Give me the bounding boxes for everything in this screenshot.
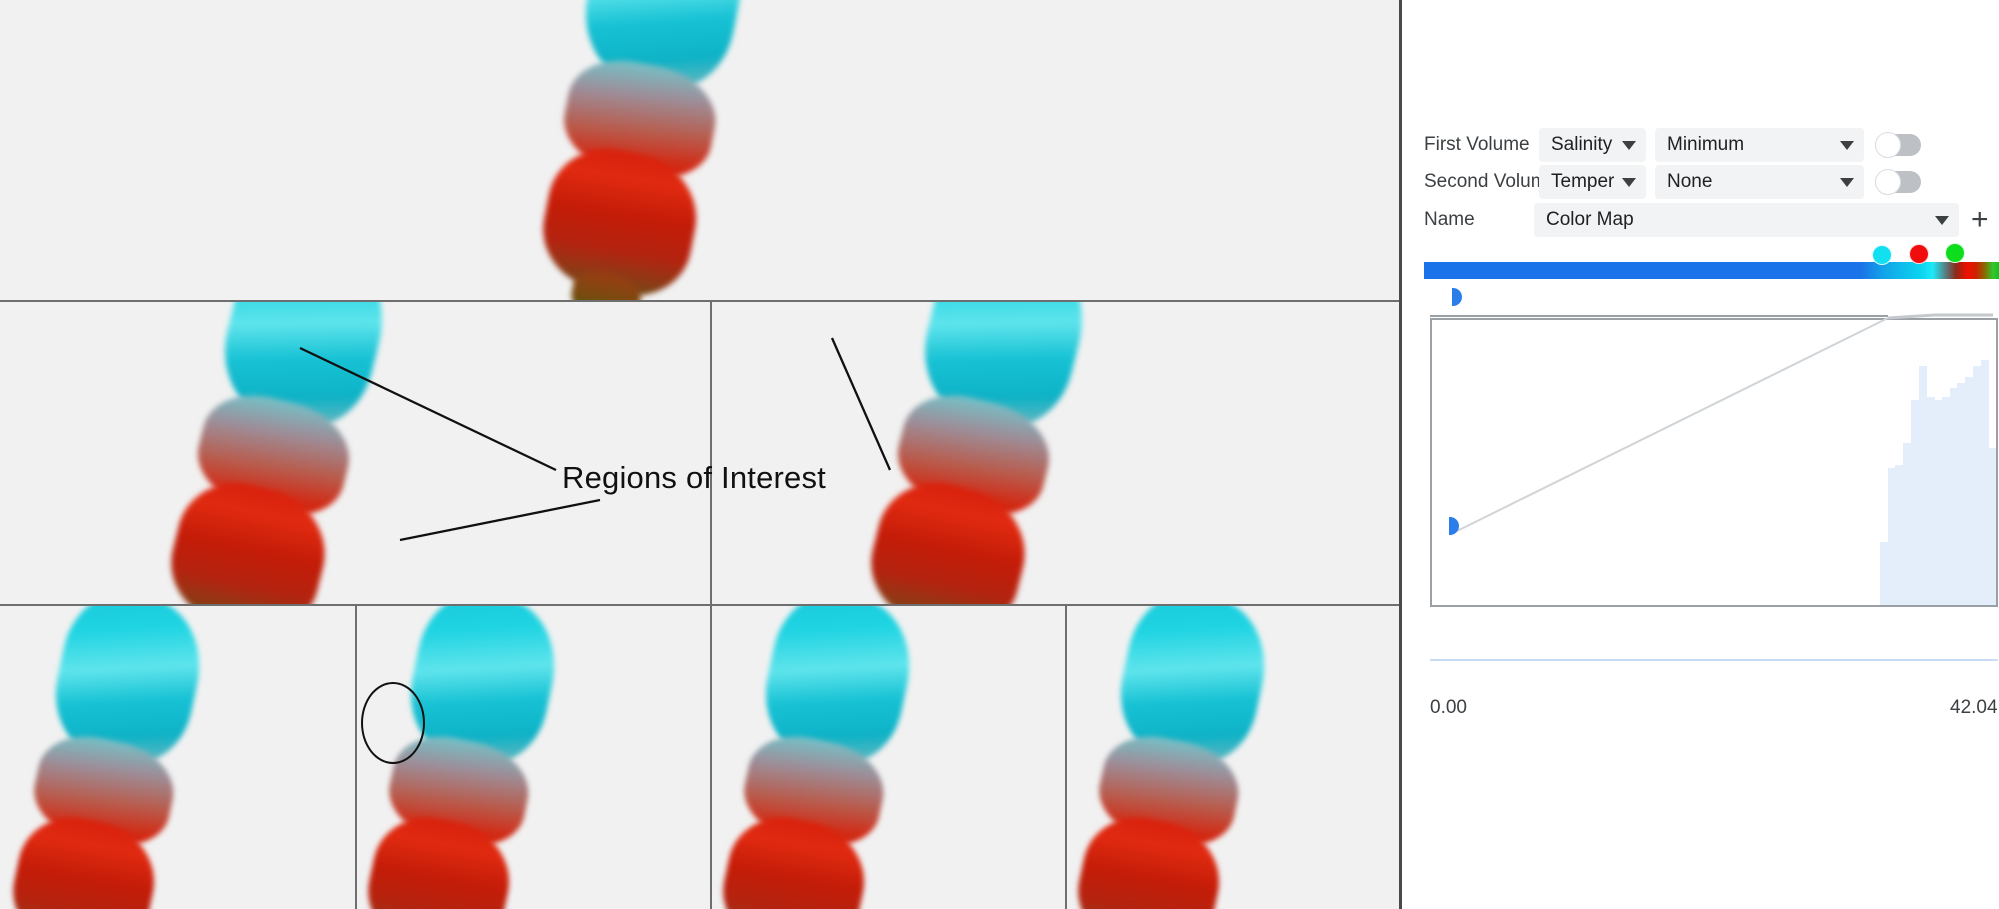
viz-cell-1[interactable]	[0, 606, 355, 909]
first-volume-label: First Volume	[1424, 134, 1539, 156]
first-volume-aggregate-value: Minimum	[1667, 134, 1832, 156]
second-volume-variable-select[interactable]: Temperature	[1539, 165, 1646, 199]
chevron-down-icon	[1622, 141, 1636, 150]
chevron-down-icon	[1622, 178, 1636, 187]
second-volume-toggle[interactable]	[1875, 171, 1921, 193]
color-map-select[interactable]: Color Map	[1534, 203, 1959, 237]
volume-render-plume	[527, 0, 754, 300]
second-volume-row: Second Volume Temperature None	[1424, 165, 1999, 199]
first-volume-variable-select[interactable]: Salinity	[1539, 128, 1646, 162]
axis-min-label: 0.00	[1430, 697, 1467, 719]
section-divider	[1430, 659, 1998, 661]
chevron-down-icon	[1935, 216, 1949, 225]
chevron-down-icon	[1840, 141, 1854, 150]
viz-cell-full[interactable]	[0, 0, 1399, 300]
histogram-bar	[1988, 448, 1996, 605]
color-map-value: Color Map	[1546, 209, 1927, 231]
second-volume-variable-value: Temperature	[1551, 171, 1614, 193]
toggle-knob	[1875, 169, 1901, 195]
volume-render-plume	[710, 606, 923, 909]
visualization-panel: Regions of Interest	[0, 0, 1402, 909]
first-volume-aggregate-select[interactable]: Minimum	[1655, 128, 1864, 162]
chevron-down-icon	[1840, 178, 1854, 187]
viz-cell-3[interactable]	[710, 606, 1065, 909]
viz-row-1	[0, 0, 1399, 302]
roi-ellipse	[361, 682, 425, 764]
application-window: Regions of Interest First Volume Salinit…	[0, 0, 1999, 909]
second-volume-aggregate-value: None	[1667, 171, 1832, 193]
volume-render-plume	[151, 302, 398, 604]
viz-cell-2[interactable]	[355, 606, 710, 909]
first-volume-variable-value: Salinity	[1551, 134, 1614, 156]
volume-render-plume	[851, 302, 1098, 604]
first-volume-row: First Volume Salinity Minimum	[1424, 128, 1999, 162]
color-map-gradient-bar[interactable]	[1424, 262, 1999, 279]
viz-cell-left[interactable]	[0, 302, 710, 604]
toggle-knob	[1875, 132, 1901, 158]
second-volume-label: Second Volume	[1424, 171, 1539, 193]
viz-cell-4[interactable]	[1065, 606, 1399, 909]
opacity-node-green[interactable]	[1945, 243, 1965, 263]
value-histogram	[1880, 320, 1996, 605]
name-row: Name Color Map +	[1424, 203, 1999, 237]
viz-row-3	[0, 606, 1399, 909]
axis-max-label: 42.04	[1950, 697, 1998, 719]
opacity-node-red[interactable]	[1909, 244, 1929, 264]
annotation-regions-of-interest: Regions of Interest	[562, 460, 826, 496]
viz-row-2	[0, 302, 1399, 606]
volume-render-plume	[0, 606, 213, 909]
first-volume-toggle[interactable]	[1875, 134, 1921, 156]
viz-cell-right[interactable]	[710, 302, 1399, 604]
name-label: Name	[1424, 209, 1534, 231]
opacity-node-cyan[interactable]	[1872, 245, 1892, 265]
transfer-function-editor[interactable]	[1430, 318, 1998, 607]
add-color-map-button[interactable]: +	[1971, 205, 1989, 235]
second-volume-aggregate-select[interactable]: None	[1655, 165, 1864, 199]
volume-render-plume	[1065, 606, 1278, 909]
